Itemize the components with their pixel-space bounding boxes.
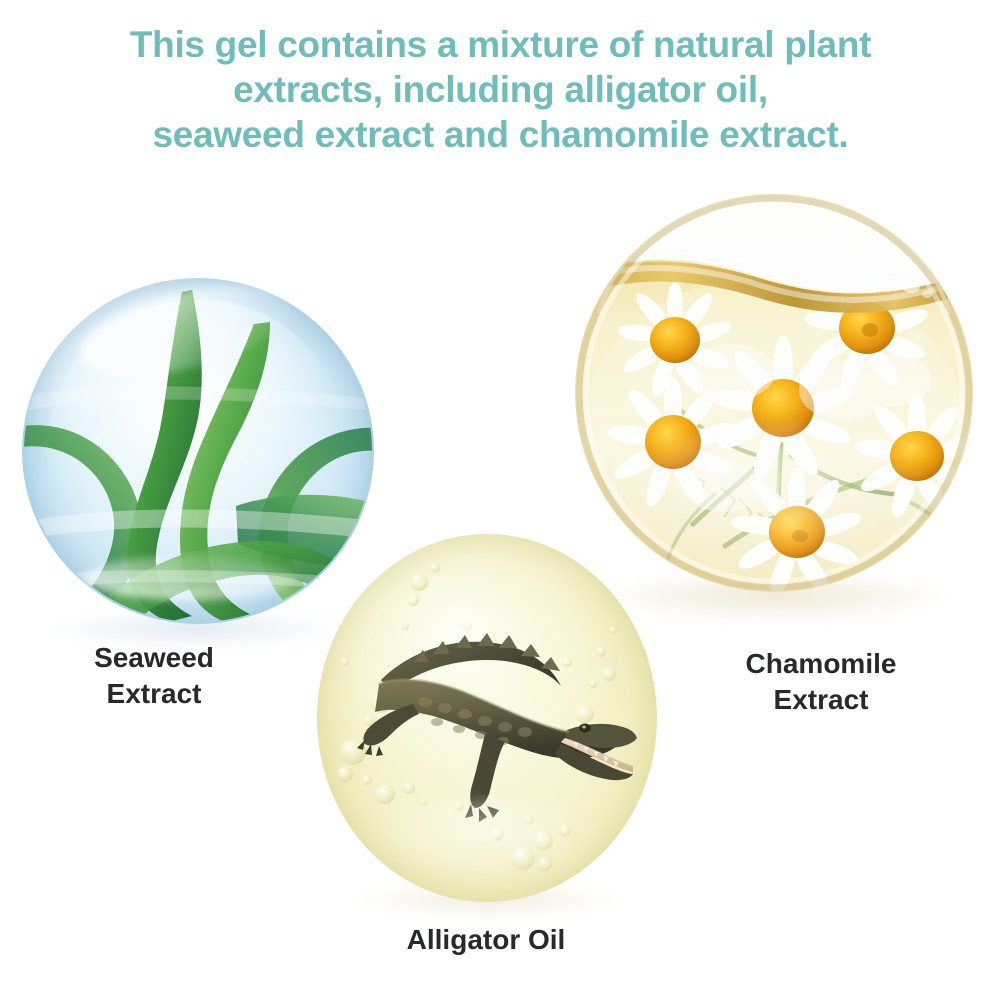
alligator-sphere: [317, 534, 657, 902]
label-alligator-line-1: Alligator Oil: [346, 922, 626, 958]
seaweed-sphere-bottom-highlight: [85, 555, 296, 600]
ingredient-alligator: [317, 534, 657, 902]
chamomile-sphere: [575, 194, 973, 592]
label-seaweed-extract: Seaweed Extract: [20, 640, 288, 712]
label-seaweed-line-1: Seaweed: [20, 640, 288, 676]
alligator-sphere-highlight: [358, 799, 610, 887]
ingredient-chamomile: [575, 194, 973, 592]
page-title: This gel contains a mixture of natural p…: [0, 22, 1001, 157]
headline-line-2: extracts, including alligator oil,: [0, 67, 1001, 112]
headline-line-1: This gel contains a mixture of natural p…: [0, 22, 1001, 67]
infographic-canvas: This gel contains a mixture of natural p…: [0, 0, 1001, 1000]
label-alligator-oil: Alligator Oil: [346, 922, 626, 958]
label-chamomile-line-2: Extract: [680, 682, 962, 718]
headline-line-3: seaweed extract and chamomile extract.: [0, 112, 1001, 157]
label-chamomile-line-1: Chamomile: [680, 646, 962, 682]
label-seaweed-line-2: Extract: [20, 676, 288, 712]
label-chamomile-extract: Chamomile Extract: [680, 646, 962, 718]
chamomile-sphere-highlight: [615, 425, 933, 568]
